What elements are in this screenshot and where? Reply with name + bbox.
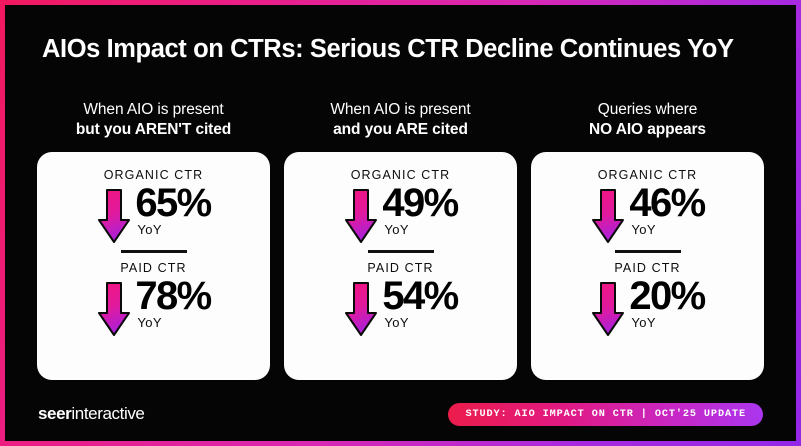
column-header-line2: but you AREN'T cited xyxy=(37,120,270,140)
column-header-line1: When AIO is present xyxy=(37,100,270,120)
column-no-aio: Queries where NO AIO appears ORGANIC CTR… xyxy=(531,100,764,380)
metric-value-group: 54% YoY xyxy=(382,277,457,330)
column-header-line1: When AIO is present xyxy=(284,100,517,120)
metric-row: 49% YoY xyxy=(343,184,457,244)
metric-row: 65% YoY xyxy=(96,184,210,244)
metric-value-group: 65% YoY xyxy=(135,184,210,237)
arrow-down-icon xyxy=(590,281,626,337)
metric-period: YoY xyxy=(384,315,409,330)
arrow-down-icon xyxy=(96,281,132,337)
arrow-down-icon xyxy=(96,188,132,244)
metric-value-group: 78% YoY xyxy=(135,277,210,330)
metric-row: 54% YoY xyxy=(343,277,457,337)
arrow-down-icon xyxy=(590,188,626,244)
metric-card: ORGANIC CTR 65% YoY xyxy=(37,152,270,380)
metric-label: PAID CTR xyxy=(367,261,433,275)
metric-value-group: 46% YoY xyxy=(629,184,704,237)
metric-value: 65% xyxy=(135,184,210,223)
arrow-down-icon xyxy=(343,188,379,244)
metric-label: ORGANIC CTR xyxy=(104,168,204,182)
logo-bold-part: seer xyxy=(38,404,71,423)
metric-value: 46% xyxy=(629,184,704,223)
metric-value-group: 20% YoY xyxy=(629,277,704,330)
seer-interactive-logo: seerinteractive xyxy=(38,404,144,424)
metric-row: 20% YoY xyxy=(590,277,704,337)
metric-organic-ctr: ORGANIC CTR 46% YoY xyxy=(541,168,754,244)
page-title: AIOs Impact on CTRs: Serious CTR Decline… xyxy=(42,35,734,64)
metric-label: ORGANIC CTR xyxy=(351,168,451,182)
metric-organic-ctr: ORGANIC CTR 49% YoY xyxy=(294,168,507,244)
card-divider xyxy=(615,250,681,253)
metric-value: 49% xyxy=(382,184,457,223)
metric-period: YoY xyxy=(137,222,162,237)
metric-paid-ctr: PAID CTR 20% YoY xyxy=(541,261,754,337)
metric-card: ORGANIC CTR 46% YoY xyxy=(531,152,764,380)
columns-container: When AIO is present but you AREN'T cited… xyxy=(37,100,764,380)
footer: seerinteractive STUDY: AIO IMPACT ON CTR… xyxy=(5,400,796,428)
column-header-line2: and you ARE cited xyxy=(284,120,517,140)
metric-paid-ctr: PAID CTR 54% YoY xyxy=(294,261,507,337)
metric-label: ORGANIC CTR xyxy=(598,168,698,182)
arrow-down-icon xyxy=(343,281,379,337)
metric-label: PAID CTR xyxy=(614,261,680,275)
column-header-line1: Queries where xyxy=(531,100,764,120)
metric-period: YoY xyxy=(631,315,656,330)
metric-value-group: 49% YoY xyxy=(382,184,457,237)
metric-value: 78% xyxy=(135,277,210,316)
column-aio-present-cited: When AIO is present and you ARE cited OR… xyxy=(284,100,517,380)
metric-value: 54% xyxy=(382,277,457,316)
column-aio-present-not-cited: When AIO is present but you AREN'T cited… xyxy=(37,100,270,380)
metric-period: YoY xyxy=(631,222,656,237)
metric-row: 46% YoY xyxy=(590,184,704,244)
infographic-frame: AIOs Impact on CTRs: Serious CTR Decline… xyxy=(0,0,801,446)
metric-period: YoY xyxy=(384,222,409,237)
column-header-line2: NO AIO appears xyxy=(531,120,764,140)
metric-label: PAID CTR xyxy=(120,261,186,275)
metric-row: 78% YoY xyxy=(96,277,210,337)
metric-card: ORGANIC CTR 49% YoY xyxy=(284,152,517,380)
card-divider xyxy=(121,250,187,253)
infographic-canvas: AIOs Impact on CTRs: Serious CTR Decline… xyxy=(5,5,796,441)
metric-value: 20% xyxy=(629,277,704,316)
card-divider xyxy=(368,250,434,253)
column-header: When AIO is present but you AREN'T cited xyxy=(37,100,270,143)
column-header: Queries where NO AIO appears xyxy=(531,100,764,143)
column-header: When AIO is present and you ARE cited xyxy=(284,100,517,143)
metric-period: YoY xyxy=(137,315,162,330)
logo-regular-part: interactive xyxy=(71,404,144,423)
metric-paid-ctr: PAID CTR 78% YoY xyxy=(47,261,260,337)
metric-organic-ctr: ORGANIC CTR 65% YoY xyxy=(47,168,260,244)
study-badge: STUDY: AIO IMPACT ON CTR | OCT'25 UPDATE xyxy=(448,403,763,426)
